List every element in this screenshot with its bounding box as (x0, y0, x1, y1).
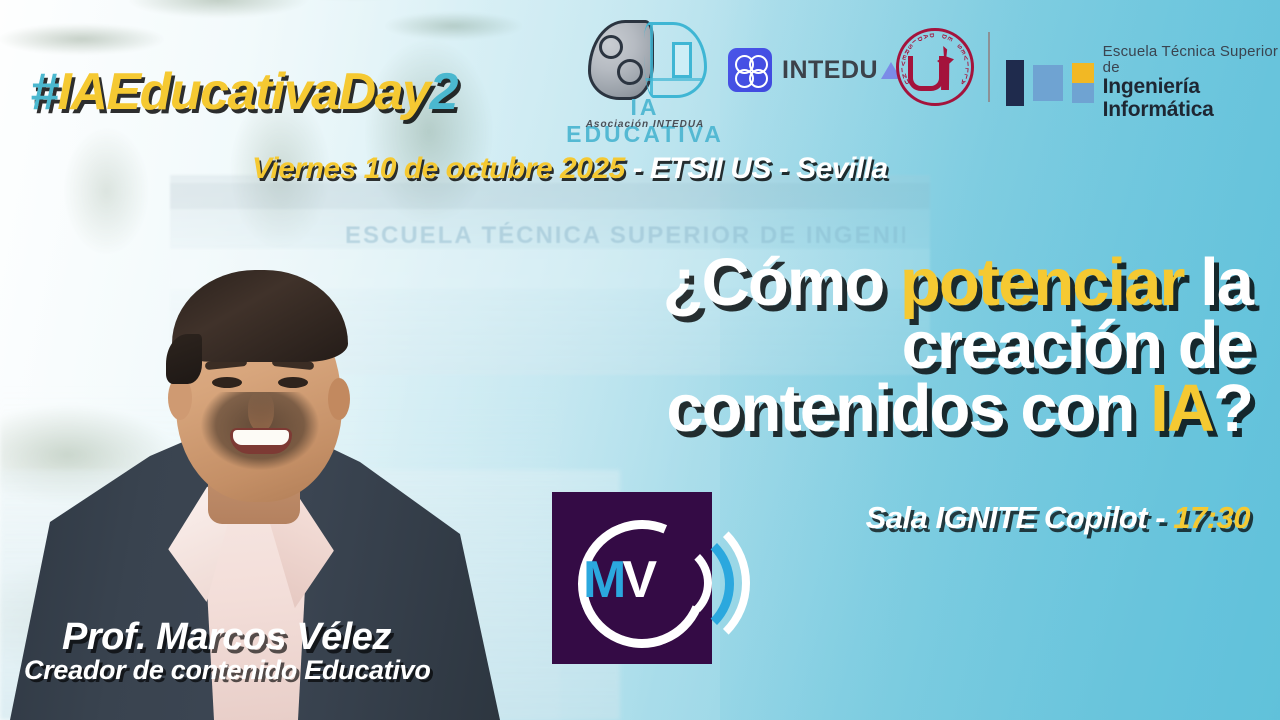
title-line-1: ¿Cómo potenciar la (462, 252, 1252, 315)
hashtag-main: IAEducativaDay (57, 63, 429, 121)
event-poster: ESCUELA TÉCNICA SUPERIOR DE INGENIERÍA #… (0, 0, 1280, 720)
event-dateline: Viernes 10 de octubre 2025 - ETSII US - … (252, 152, 888, 186)
intedua-word-text: INTEDU (782, 56, 878, 85)
us-seal-ring-char: E (946, 35, 954, 42)
speaker-name: Prof. Marcos Vélez (62, 616, 391, 659)
etsii-wordmark: Escuela Técnica Superior de Ingeniería I… (1103, 44, 1280, 122)
brain-circuit-icon (588, 18, 706, 96)
us-seal-ring-char: S (906, 43, 914, 51)
logo-mv: MV (552, 492, 712, 664)
etsii-block-yellow-half (1072, 63, 1094, 83)
clover-circle-bottom-right-icon (749, 69, 768, 88)
hashtag-edition: 2 (429, 63, 456, 121)
event-hashtag: #IAEducativaDay2 (30, 62, 457, 122)
speaker-eye-right (278, 377, 308, 388)
title-line-3-part-c: ? (1213, 371, 1252, 446)
mv-monogram: MV (552, 554, 712, 606)
etsii-block-blue-half (1072, 83, 1094, 103)
intedua-wordmark: INTEDU (782, 56, 901, 85)
logo-etsii: Escuela Técnica Superior de Ingeniería I… (1006, 44, 1280, 122)
speaker-eye-left (212, 377, 242, 388)
title-highlight-ia: IA (1150, 371, 1213, 446)
etsii-line-2: Ingeniería Informática (1103, 76, 1280, 121)
title-line-2: creación de (462, 315, 1252, 378)
speaker-mouth (230, 428, 292, 454)
logo-intedua: INTEDU (728, 48, 901, 92)
logo-universidad-sevilla: UNIVERSIDAD DE SEVILLA (896, 28, 974, 106)
mv-letter-m: M (583, 551, 622, 609)
session-time: 17:30 (1173, 500, 1250, 535)
us-seal-ring-char: D (928, 33, 935, 38)
logo-divider (988, 32, 990, 102)
session-room: Sala IGNITE Copilot - (866, 500, 1174, 535)
speaker-nose (248, 392, 274, 432)
logo-ia-educativa: IA EDUCATIVA Asociación INTEDUA (560, 18, 730, 130)
title-line-3-part-a: contenidos con (666, 371, 1150, 446)
title-line-3: contenidos con IA? (462, 378, 1252, 441)
etsii-block-yellow-blue-icon (1072, 63, 1094, 103)
event-venue: - ETSII US - Sevilla (625, 152, 888, 185)
title-line-1-part-a: ¿Cómo (663, 245, 900, 320)
us-seal-ring-char: A (960, 77, 967, 85)
intedua-clover-icon (728, 48, 772, 92)
speaker-teeth (233, 430, 289, 445)
page-title: ¿Cómo potenciar la creación de contenido… (462, 252, 1252, 441)
hashtag-symbol: # (30, 63, 57, 121)
us-seal-ring-char: I (901, 67, 903, 74)
ia-educativa-subtitle: Asociación INTEDUA (560, 119, 730, 130)
session-room-time: Sala IGNITE Copilot - 17:30 (866, 500, 1250, 536)
etsii-block-blue-icon (1033, 65, 1063, 101)
speaker-role: Creador de contenido Educativo (24, 655, 431, 686)
microchip-icon (672, 42, 692, 78)
event-date: Viernes 10 de octubre 2025 (252, 152, 625, 185)
etsii-block-navy-icon (1006, 60, 1024, 106)
etsii-line-1: Escuela Técnica Superior de (1103, 44, 1280, 76)
speaker-hair (172, 270, 348, 362)
mv-letter-v: V (622, 551, 653, 609)
